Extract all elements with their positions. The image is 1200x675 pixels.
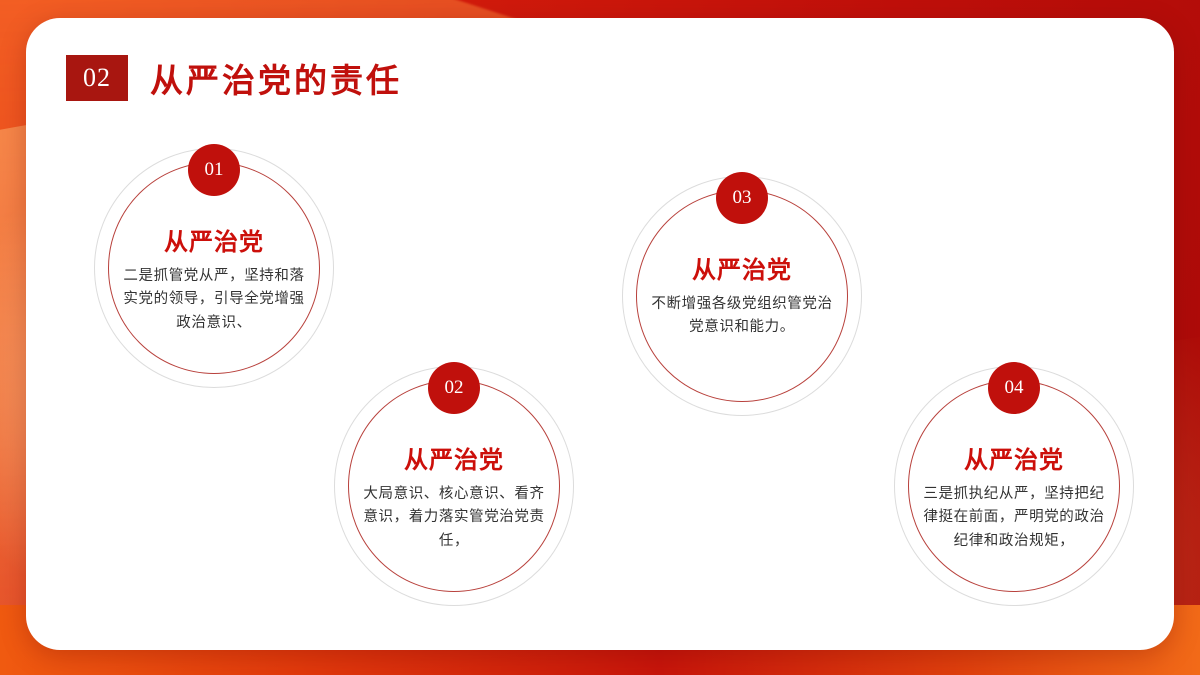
- item-circle-04[interactable]: 04 从严治党 三是抓执纪从严，坚持把纪律挺在前面，严明党的政治纪律和政治规矩，: [884, 356, 1144, 616]
- item-body-01: 二是抓管党从严，坚持和落实党的领导，引导全党增强政治意识、: [122, 265, 306, 335]
- item-circle-02[interactable]: 02 从严治党 大局意识、核心意识、看齐意识，着力落实管党治党责任，: [324, 356, 584, 616]
- item-body-04: 三是抓执纪从严，坚持把纪律挺在前面，严明党的政治纪律和政治规矩，: [922, 483, 1106, 553]
- item-number-badge-03: 03: [716, 172, 768, 224]
- item-content-03: 从严治党 不断增强各级党组织管党治党意识和能力。: [650, 250, 834, 340]
- item-content-04: 从严治党 三是抓执纪从严，坚持把纪律挺在前面，严明党的政治纪律和政治规矩，: [922, 440, 1106, 553]
- item-content-01: 从严治党 二是抓管党从严，坚持和落实党的领导，引导全党增强政治意识、: [122, 222, 306, 335]
- item-content-02: 从严治党 大局意识、核心意识、看齐意识，着力落实管党治党责任，: [362, 440, 546, 553]
- content-card: 02 从严治党的责任 01 从严治党 二是抓管党从严，坚持和落实党的领导，引导全…: [26, 18, 1174, 650]
- item-title-04: 从严治党: [964, 440, 1064, 475]
- slide-header: 02 从严治党的责任: [66, 54, 402, 102]
- item-circle-03[interactable]: 03 从严治党 不断增强各级党组织管党治党意识和能力。: [612, 166, 872, 426]
- item-title-03: 从严治党: [692, 250, 792, 285]
- slide: 02 从严治党的责任 01 从严治党 二是抓管党从严，坚持和落实党的领导，引导全…: [0, 0, 1200, 675]
- item-number-badge-02: 02: [428, 362, 480, 414]
- item-title-02: 从严治党: [404, 440, 504, 475]
- item-number-badge-04: 04: [988, 362, 1040, 414]
- item-body-03: 不断增强各级党组织管党治党意识和能力。: [650, 293, 834, 340]
- item-circle-01[interactable]: 01 从严治党 二是抓管党从严，坚持和落实党的领导，引导全党增强政治意识、: [84, 138, 344, 398]
- page-title: 从严治党的责任: [150, 54, 402, 102]
- item-body-02: 大局意识、核心意识、看齐意识，着力落实管党治党责任，: [362, 483, 546, 553]
- item-title-01: 从严治党: [164, 222, 264, 257]
- section-number-badge: 02: [66, 55, 128, 101]
- item-number-badge-01: 01: [188, 144, 240, 196]
